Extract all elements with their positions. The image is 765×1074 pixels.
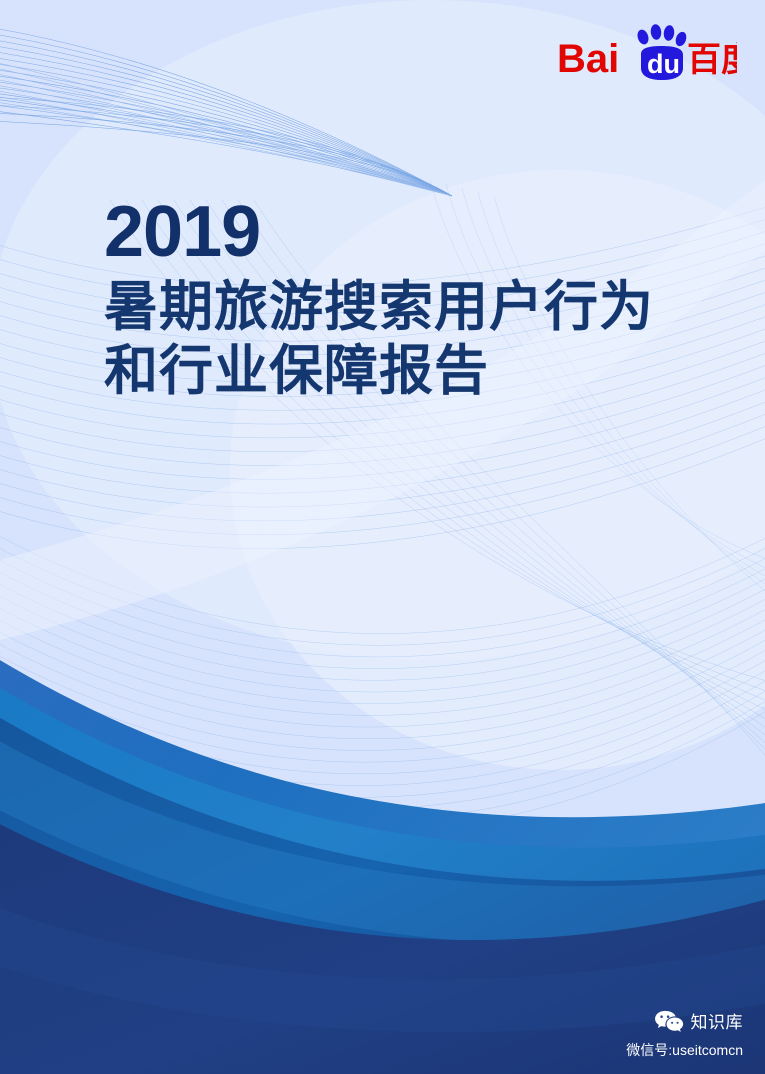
baidu-paw-text: du [647, 49, 680, 79]
wechat-account-row: 知识库 [626, 1009, 743, 1035]
background-wave-artwork [0, 0, 765, 1074]
wechat-id-label: 微信号:useitcomcn [626, 1040, 743, 1060]
cover-title-block: 2019 暑期旅游搜索用户行为 和行业保障报告 [104, 196, 704, 403]
wechat-account-name: 知识库 [691, 1014, 744, 1031]
wechat-credit: 知识库 微信号:useitcomcn [626, 1009, 743, 1060]
report-title-line-2: 和行业保障报告 [104, 340, 704, 404]
wechat-icon [654, 1009, 684, 1035]
baidu-latin-text: Bai [557, 37, 619, 81]
report-cover-page: Bai du 百度 2019 暑期旅游搜索用户行为 和行业保障报告 [0, 0, 765, 1074]
report-year: 2019 [104, 196, 704, 268]
baidu-logo: Bai du 百度 [557, 24, 737, 86]
report-title-line-1: 暑期旅游搜索用户行为 [104, 276, 704, 340]
baidu-chinese-text: 百度 [687, 41, 737, 79]
